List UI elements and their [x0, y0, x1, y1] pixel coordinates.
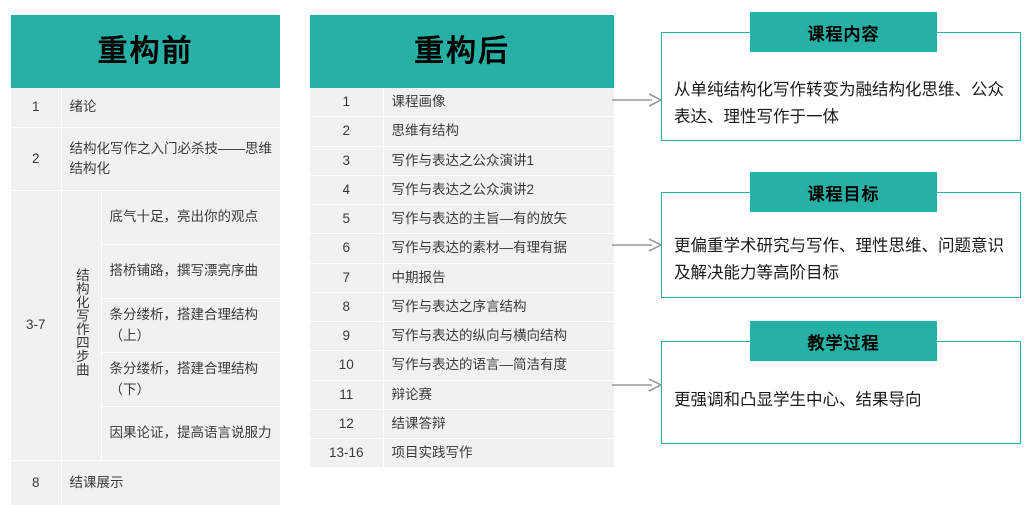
- panel-course-content-body: 从单纯结构化写作转变为融结构化思维、公众表达、理性写作于一体: [662, 77, 1020, 131]
- row-text: 项目实践写作: [383, 439, 614, 468]
- row-number: 13-16: [310, 439, 383, 468]
- row-text: 搭桥铺路，撰写漂亮序曲: [101, 245, 280, 299]
- row-number: 5: [310, 205, 383, 234]
- table-row: 5写作与表达的主旨—有的放矢: [310, 205, 614, 234]
- table-row: 6写作与表达的素材—有理有据: [310, 234, 614, 263]
- row-number: 11: [310, 380, 383, 409]
- row-text: 因果论证，提高语言说服力: [101, 407, 280, 461]
- row-text: 辩论赛: [383, 380, 614, 409]
- after-restructure-body: 1课程画像2思维有结构3写作与表达之公众演讲14写作与表达之公众演讲25写作与表…: [310, 88, 614, 467]
- row-text: 条分缕析，搭建合理结构（下）: [101, 353, 280, 407]
- row-number: 12: [310, 409, 383, 438]
- after-restructure-table: 重构后 1课程画像2思维有结构3写作与表达之公众演讲14写作与表达之公众演讲25…: [310, 15, 614, 467]
- row-text: 写作与表达的纵向与横向结构: [383, 322, 614, 351]
- row-number: 6: [310, 234, 383, 263]
- before-restructure-table: 重构前 1 绪论 2 结构化写作之入门必杀技——思维结构化 3-7 结构化写作四…: [11, 15, 280, 505]
- panel-course-goal-title: 课程目标: [750, 172, 937, 212]
- table-row: 7中期报告: [310, 263, 614, 292]
- row-text: 思维有结构: [383, 117, 614, 146]
- row-number: 10: [310, 351, 383, 380]
- row-number: 1: [11, 88, 61, 128]
- row-text: 结课展示: [61, 461, 280, 505]
- row-text: 中期报告: [383, 263, 614, 292]
- table-row: 10写作与表达的语言—简洁有度: [310, 351, 614, 380]
- row-text: 底气十足，亮出你的观点: [101, 191, 280, 245]
- table-row: 2 结构化写作之入门必杀技——思维结构化: [11, 128, 280, 191]
- after-restructure-header: 重构后: [310, 15, 614, 88]
- row-text: 条分缕析，搭建合理结构（上）: [101, 299, 280, 353]
- row-group-label: 结构化写作四步曲: [61, 191, 101, 461]
- panel-teaching-process-body: 更强调和凸显学生中心、结果导向: [662, 387, 1020, 414]
- row-text: 写作与表达之公众演讲1: [383, 146, 614, 175]
- row-text: 课程画像: [383, 88, 614, 117]
- row-number: 3-7: [11, 191, 61, 461]
- table-row: 9写作与表达的纵向与横向结构: [310, 322, 614, 351]
- row-text: 结课答辩: [383, 409, 614, 438]
- row-number: 1: [310, 88, 383, 117]
- table-row: 12结课答辩: [310, 409, 614, 438]
- connector-arrow-1: [612, 92, 662, 108]
- table-row: 8 结课展示: [11, 461, 280, 505]
- row-text: 写作与表达的主旨—有的放矢: [383, 205, 614, 234]
- table-row: 11辩论赛: [310, 380, 614, 409]
- row-number: 2: [310, 117, 383, 146]
- table-row: 8写作与表达之序言结构: [310, 292, 614, 321]
- row-number: 4: [310, 175, 383, 204]
- row-number: 3: [310, 146, 383, 175]
- row-text: 写作与表达之公众演讲2: [383, 175, 614, 204]
- row-text: 写作与表达的素材—有理有据: [383, 234, 614, 263]
- row-number: 7: [310, 263, 383, 292]
- connector-arrow-2: [612, 237, 662, 253]
- table-row: 13-16项目实践写作: [310, 439, 614, 468]
- table-row: 2思维有结构: [310, 117, 614, 146]
- row-number: 2: [11, 128, 61, 191]
- table-row: 1课程画像: [310, 88, 614, 117]
- before-restructure-header: 重构前: [11, 15, 280, 88]
- row-text: 写作与表达的语言—简洁有度: [383, 351, 614, 380]
- row-number: 8: [310, 292, 383, 321]
- table-row: 1 绪论: [11, 88, 280, 128]
- table-row: 3-7 结构化写作四步曲 底气十足，亮出你的观点: [11, 191, 280, 245]
- row-text: 结构化写作之入门必杀技——思维结构化: [61, 128, 280, 191]
- panel-teaching-process-title: 教学过程: [750, 321, 937, 361]
- before-restructure-body: 1 绪论 2 结构化写作之入门必杀技——思维结构化 3-7 结构化写作四步曲 底…: [11, 88, 280, 505]
- row-text: 写作与表达之序言结构: [383, 292, 614, 321]
- panel-course-content-title: 课程内容: [750, 12, 937, 52]
- row-number: 8: [11, 461, 61, 505]
- table-row: 3写作与表达之公众演讲1: [310, 146, 614, 175]
- panel-course-goal-body: 更偏重学术研究与写作、理性思维、问题意识及解决能力等高阶目标: [662, 233, 1020, 287]
- row-text: 绪论: [61, 88, 280, 128]
- row-number: 9: [310, 322, 383, 351]
- connector-arrow-3: [612, 377, 662, 393]
- table-row: 4写作与表达之公众演讲2: [310, 175, 614, 204]
